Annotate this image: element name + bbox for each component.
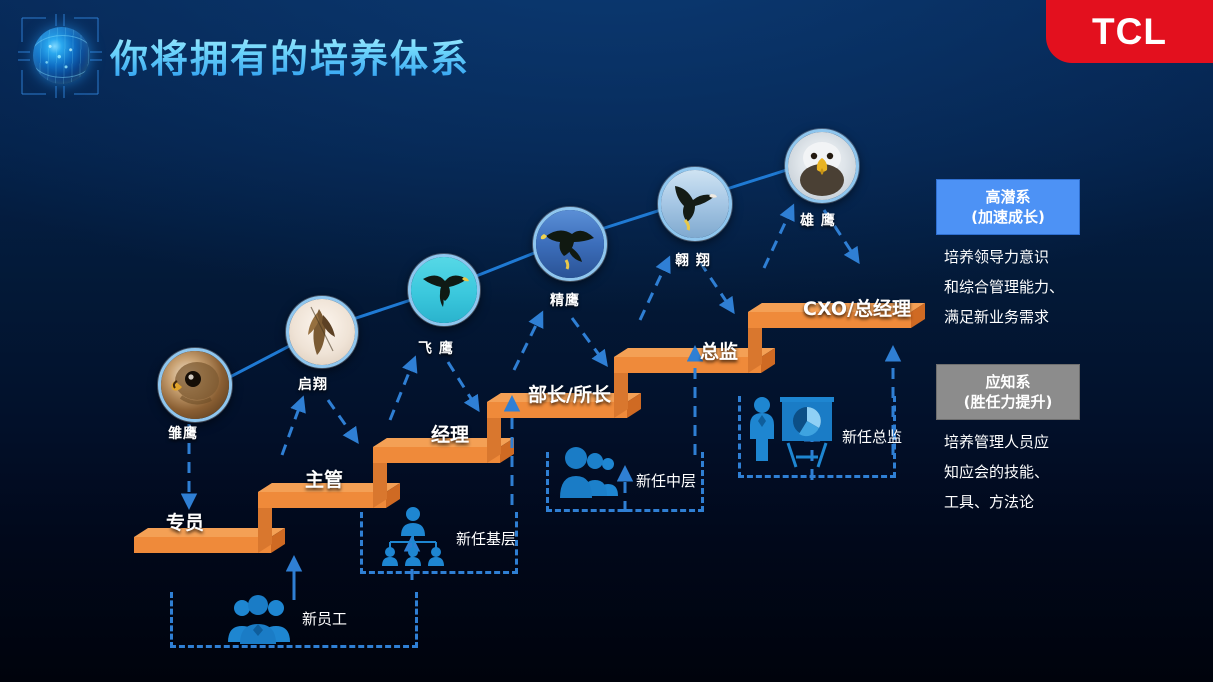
three-people-icon: [558, 446, 622, 502]
audience-group-4: 新任总监: [738, 396, 896, 478]
legend-desc-line: 和综合管理能力、: [944, 272, 1104, 302]
step-label-2: 主管: [305, 465, 343, 492]
slide-canvas: TCL 你将拥有的培养体系: [0, 0, 1213, 682]
eagle-photo-4: [533, 207, 607, 281]
hawk-perched-glyph: [289, 299, 355, 365]
audience-label-1: 新员工: [302, 608, 347, 629]
eagle-photo-2: [286, 296, 358, 368]
audience-label-4: 新任总监: [842, 426, 902, 447]
legend-category-competency: 应知系 (胜任力提升): [936, 364, 1080, 420]
eagle-label-2: 启翔: [298, 374, 328, 394]
eagle-photo-3: [408, 254, 480, 326]
career-ladder-diagram: [0, 0, 1213, 682]
globe-sphere: [33, 27, 90, 84]
eagle-label-1: 雏鹰: [168, 423, 198, 443]
eagle-label-6: 雄 鹰: [800, 210, 836, 230]
eagle-diving-glyph: [536, 210, 604, 278]
step-label-4: 部长/所长: [528, 380, 611, 407]
bald-eagle-head-glyph: [788, 132, 856, 200]
legend-description-1: 培养领导力意识 和综合管理能力、 满足新业务需求: [944, 242, 1104, 332]
legend-desc-line: 培养领导力意识: [944, 242, 1104, 272]
eagle-photo-1: [158, 348, 232, 422]
audience-group-2: 新任基层: [360, 512, 518, 574]
audience-group-1: 新员工: [170, 592, 418, 648]
page-title: 你将拥有的培养体系: [110, 28, 470, 83]
audience-label-3: 新任中层: [636, 470, 696, 491]
eagle-label-3: 飞 鹰: [418, 338, 454, 358]
presenter-chart-icon: [744, 391, 840, 471]
legend-desc-line: 工具、方法论: [944, 487, 1104, 517]
legend-category-high-potential: 高潜系 (加速成长): [936, 179, 1080, 235]
step-label-6: CXO/总经理: [803, 294, 911, 321]
legend-title-2: 应知系: [985, 372, 1030, 392]
audience-label-2: 新任基层: [456, 528, 516, 549]
legend-desc-line: 培养管理人员应: [944, 427, 1104, 457]
legend-subtitle-1: (加速成长): [971, 207, 1045, 227]
eagle-label-4: 精鹰: [550, 290, 580, 310]
tcl-logo-text: TCL: [1092, 11, 1167, 53]
eagle-landing-glyph: [661, 170, 729, 238]
step-label-1: 专员: [166, 508, 204, 535]
eagle-soaring-glyph: [411, 257, 477, 323]
legend-desc-line: 满足新业务需求: [944, 302, 1104, 332]
legend-description-2: 培养管理人员应 知应会的技能、 工具、方法论: [944, 427, 1104, 517]
legend-title-1: 高潜系: [985, 187, 1030, 207]
legend-desc-line: 知应会的技能、: [944, 457, 1104, 487]
org-chart-icon: [378, 504, 448, 566]
eagle-photo-6: [785, 129, 859, 203]
audience-group-3: 新任中层: [546, 452, 704, 512]
group-people-icon: [220, 594, 296, 646]
legend-subtitle-2: (胜任力提升): [964, 392, 1053, 412]
eagle-label-5: 翱 翔: [675, 250, 711, 270]
step-label-3: 经理: [431, 420, 469, 447]
tcl-logo: TCL: [1046, 0, 1213, 63]
eagle-photo-5: [658, 167, 732, 241]
falcon-head-glyph: [161, 351, 229, 419]
step-label-5: 总监: [700, 337, 738, 364]
globe-network-icon: [16, 12, 104, 100]
